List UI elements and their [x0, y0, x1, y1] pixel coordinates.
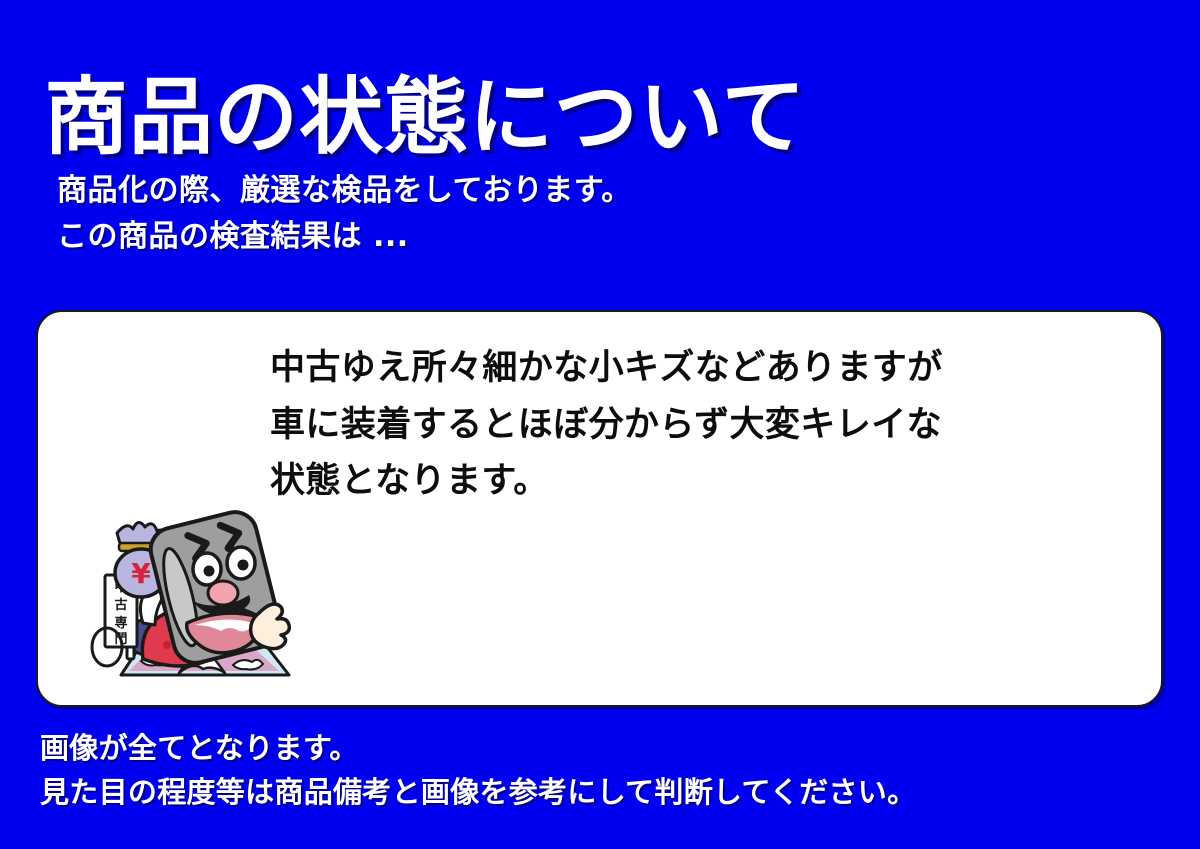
intro-line-1: 商品化の際、厳選な検品をしております。: [57, 168, 632, 214]
page-root: 商品の状態について 商品化の際、厳選な検品をしております。 この商品の検査結果は…: [0, 0, 1200, 849]
condition-line-2: 車に装着するとほぼ分からず大変キレイな: [270, 397, 943, 454]
tire-character-mascot-icon: 中 古 専 門: [83, 497, 303, 697]
condition-text-block: 中古ゆえ所々細かな小キズなどありますが 車に装着するとほぼ分からず大変キレイな …: [270, 340, 943, 510]
footer-note-block: 画像が全てとなります。 見た目の程度等は商品備考と画像を参考にして判断してくださ…: [40, 727, 916, 814]
intro-text-block: 商品化の際、厳選な検品をしております。 この商品の検査結果は ...: [57, 168, 632, 259]
svg-text:専: 専: [114, 615, 127, 631]
page-title: 商品の状態について: [44, 70, 806, 164]
condition-line-3: 状態となります。: [270, 453, 943, 510]
svg-text:古: 古: [114, 597, 127, 613]
svg-text:¥: ¥: [131, 557, 151, 590]
intro-line-2: この商品の検査結果は ...: [57, 214, 632, 260]
footer-line-2: 見た目の程度等は商品備考と画像を参考にして判断してください。: [40, 771, 916, 815]
footer-line-1: 画像が全てとなります。: [40, 727, 916, 771]
condition-panel: 中古ゆえ所々細かな小キズなどありますが 車に装着するとほぼ分からず大変キレイな …: [36, 310, 1163, 707]
condition-line-1: 中古ゆえ所々細かな小キズなどありますが: [270, 340, 943, 397]
